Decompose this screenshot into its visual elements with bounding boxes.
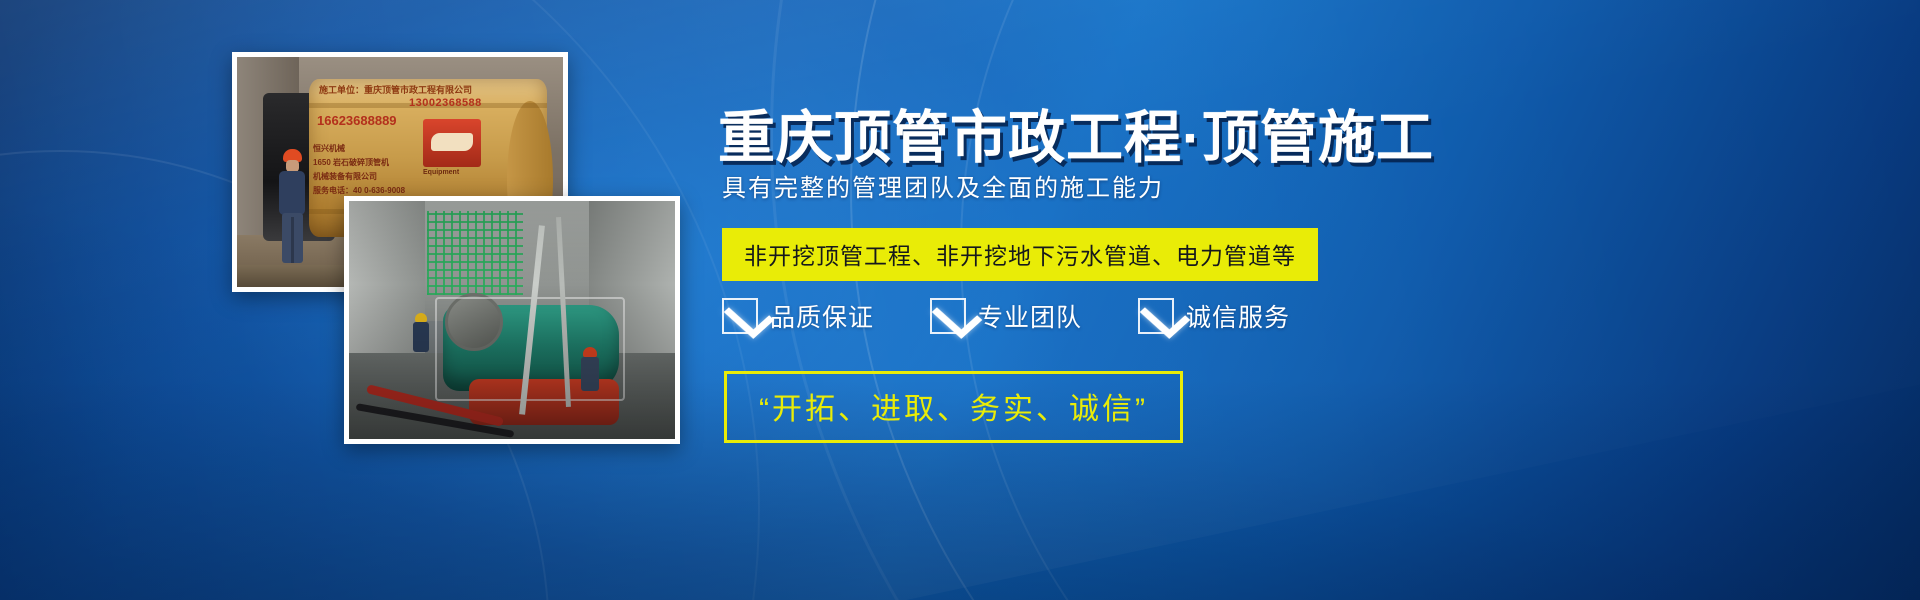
feature-item-service: 诚信服务	[1138, 298, 1290, 334]
highlight-bar: 非开挖顶管工程、非开挖地下污水管道、电力管道等	[722, 228, 1318, 281]
photo-caption-equip-co: 机械装备有限公司	[313, 171, 377, 182]
photo-caption-phone-2: 13002368588	[409, 97, 482, 109]
check-icon	[930, 298, 966, 334]
tangxing-logo	[423, 119, 481, 167]
feature-item-team: 专业团队	[930, 298, 1082, 334]
worker-figure	[275, 149, 309, 267]
slogan-text: “开拓、进取、务实、诚信”	[759, 393, 1148, 426]
photo-caption-company: 施工单位：重庆顶管市政工程有限公司	[319, 83, 472, 96]
highlight-bar-text: 非开挖顶管工程、非开挖地下污水管道、电力管道等	[744, 243, 1296, 269]
feature-list: 品质保证 专业团队 诚信服务	[722, 298, 1290, 334]
banner-title: 重庆顶管市政工程·顶管施工	[718, 92, 1434, 174]
photo-caption-phone-1: 16623688889	[317, 113, 397, 128]
feature-item-quality: 品质保证	[722, 298, 874, 334]
slogan-box: “开拓、进取、务实、诚信”	[724, 371, 1183, 443]
feature-label-service: 诚信服务	[1186, 298, 1290, 334]
photo-caption-brand: 恒兴机械	[313, 143, 345, 154]
photo-caption-equipment: Equipment	[423, 169, 459, 176]
banner-content: 重庆顶管市政工程·顶管施工 具有完整的管理团队及全面的施工能力 非开挖顶管工程、…	[718, 0, 1898, 600]
feature-label-team: 专业团队	[978, 298, 1082, 334]
feature-label-quality: 品质保证	[770, 298, 874, 334]
photo-caption-model: 1650 岩石破碎顶管机	[313, 157, 389, 168]
check-icon	[722, 298, 758, 334]
trench-construction-photo	[344, 196, 680, 444]
photo-caption-service-phone: 服务电话：40 0-636-9008	[313, 185, 405, 196]
banner-subtitle: 具有完整的管理团队及全面的施工能力	[722, 168, 1164, 203]
check-icon	[1138, 298, 1174, 334]
promo-banner: 施工单位：重庆顶管市政工程有限公司 13002368588 1662368888…	[0, 0, 1920, 600]
